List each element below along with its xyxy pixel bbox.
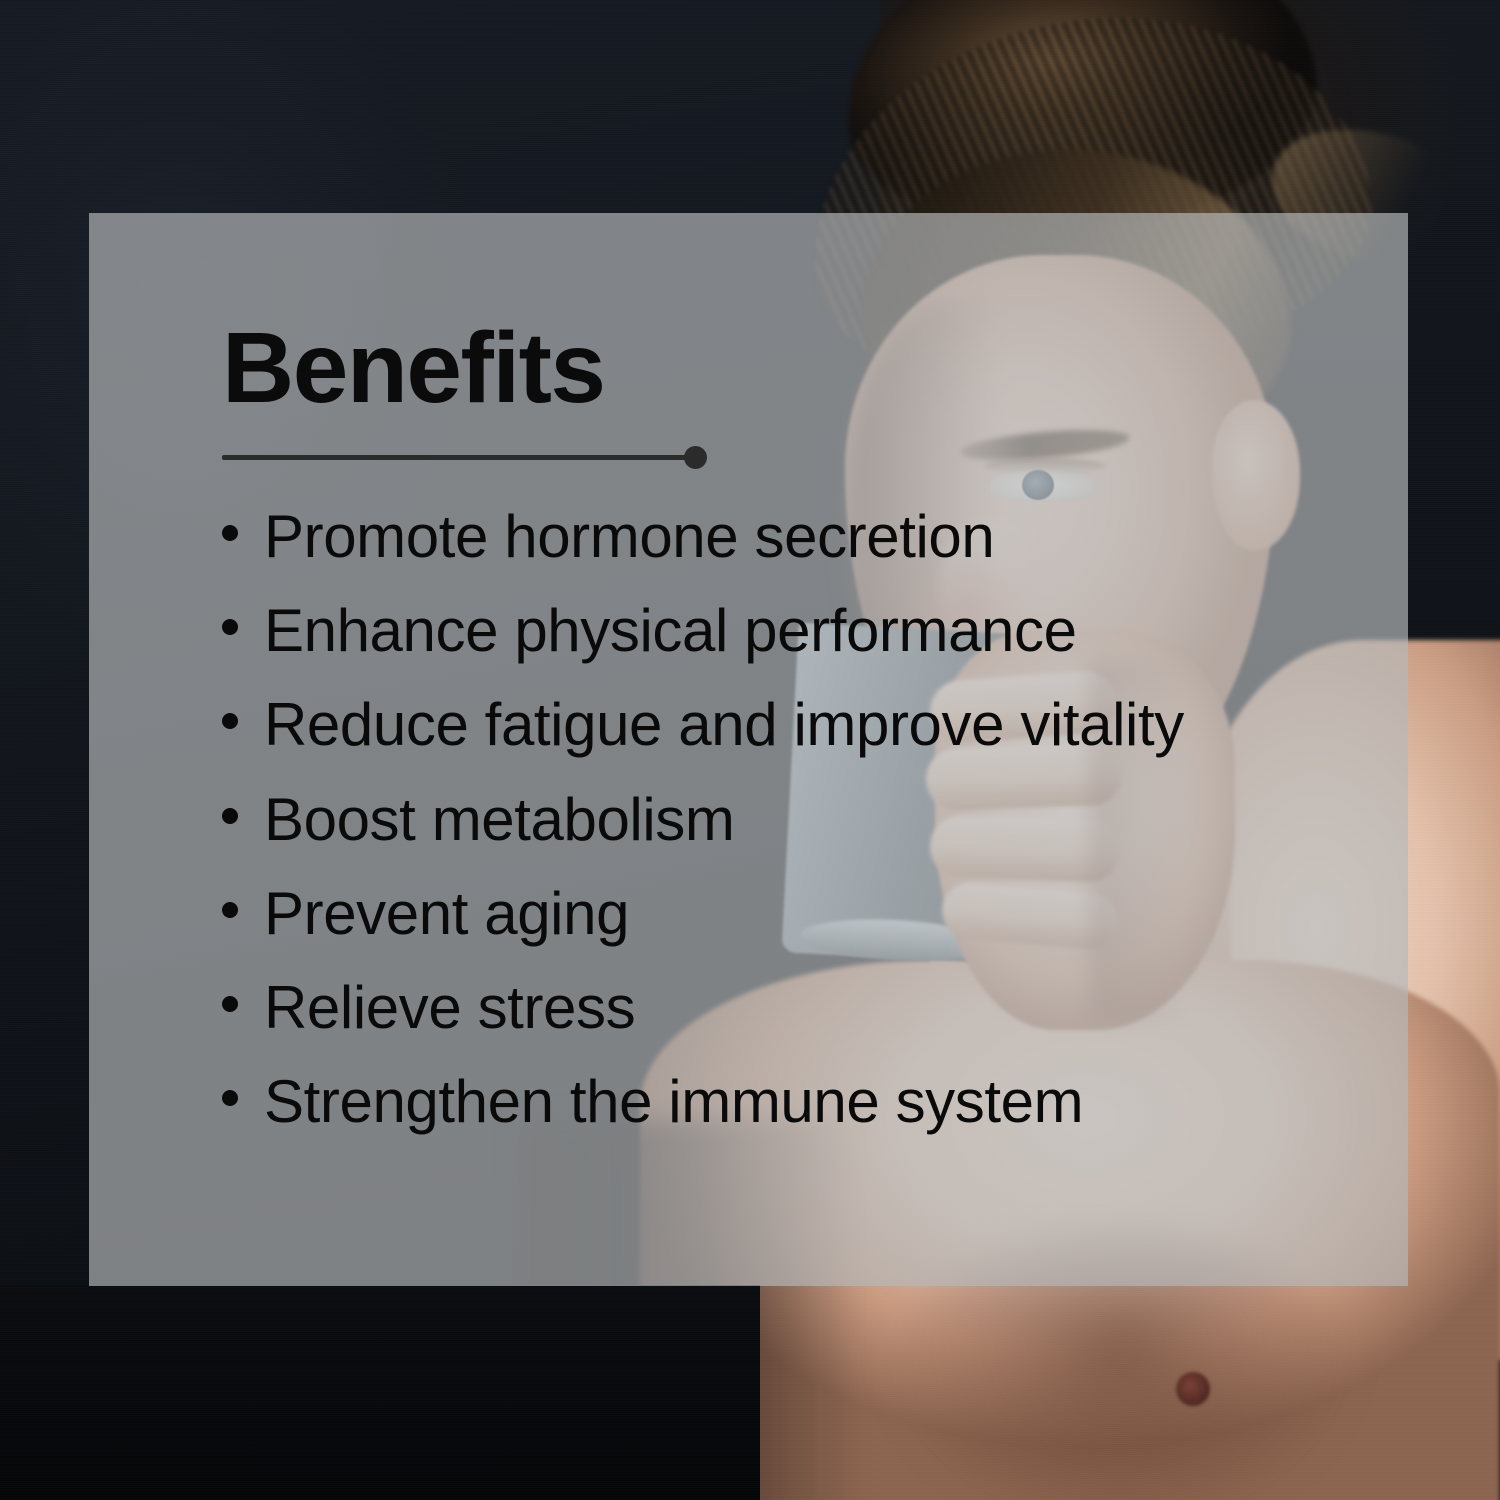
bullet-dot-icon [222,525,238,541]
list-item-label: Boost metabolism [264,785,734,855]
list-item: Prevent aging [222,879,1368,949]
list-item-label: Reduce fatigue and improve vitality [264,690,1184,760]
list-item: Relieve stress [222,973,1368,1043]
list-item: Boost metabolism [222,785,1368,855]
bottom-shadow [0,1285,760,1500]
benefits-list: Promote hormone secretion Enhance physic… [222,502,1368,1137]
benefits-panel: Benefits Promote hormone secretion Enhan… [89,213,1408,1286]
bullet-dot-icon [222,619,238,635]
bullet-dot-icon [222,902,238,918]
chest-detail [1176,1372,1210,1406]
bullet-dot-icon [222,808,238,824]
list-item: Enhance physical performance [222,596,1368,666]
bullet-dot-icon [222,713,238,729]
divider-line [222,455,697,460]
panel-content: Benefits Promote hormone secretion Enhan… [222,318,1368,1246]
page-title: Benefits [222,318,1368,418]
list-item-label: Strengthen the immune system [264,1067,1083,1137]
bullet-dot-icon [222,996,238,1012]
list-item-label: Relieve stress [264,973,635,1043]
divider-dot-icon [684,446,707,469]
title-divider [222,446,716,468]
bullet-dot-icon [222,1090,238,1106]
list-item: Promote hormone secretion [222,502,1368,572]
list-item-label: Enhance physical performance [264,596,1077,666]
list-item: Strengthen the immune system [222,1067,1368,1137]
list-item-label: Promote hormone secretion [264,502,994,572]
list-item: Reduce fatigue and improve vitality [222,690,1368,760]
list-item-label: Prevent aging [264,879,629,949]
infographic-canvas: Benefits Promote hormone secretion Enhan… [0,0,1500,1500]
